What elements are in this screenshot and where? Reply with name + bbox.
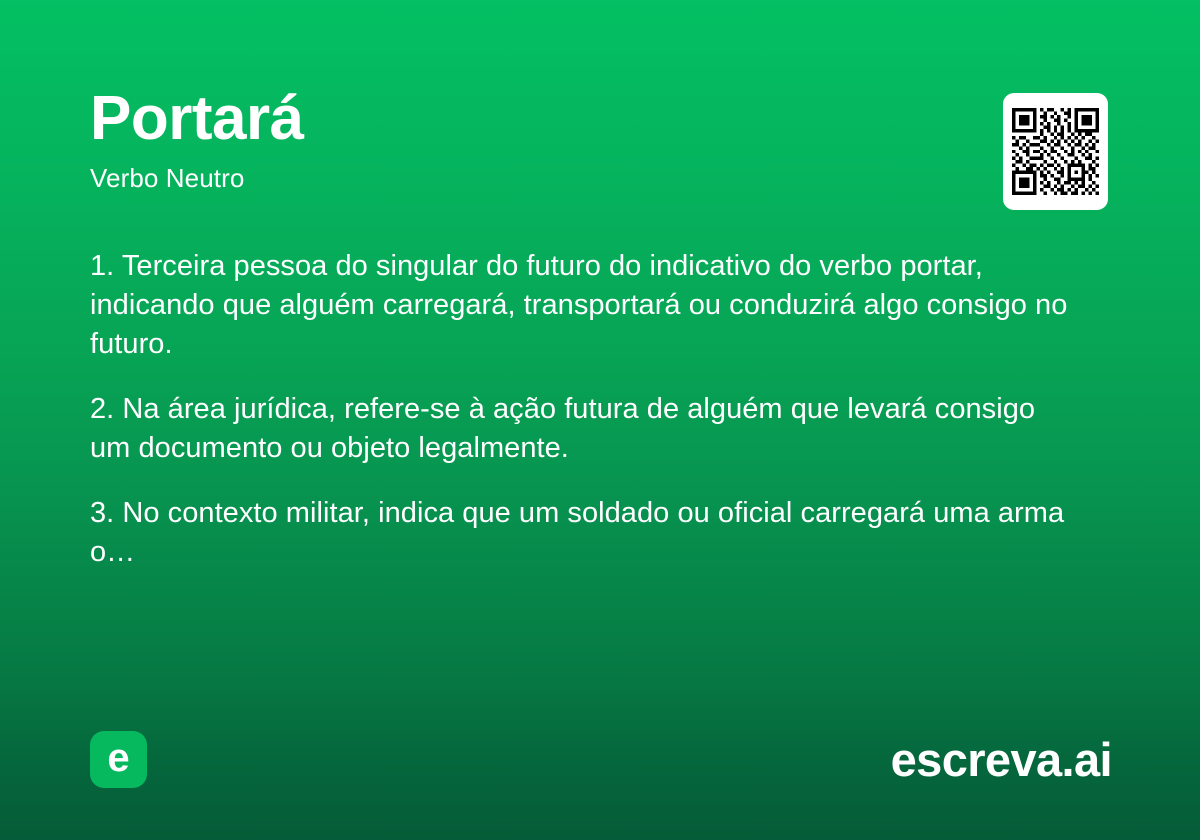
card-header: Portará Verbo Neutro: [90, 88, 1110, 193]
qr-code-icon: [1012, 108, 1099, 195]
brand-logo-mark: e: [90, 731, 147, 788]
card-footer: e escreva.ai: [90, 730, 1112, 788]
qr-code-card[interactable]: [1003, 93, 1108, 210]
page-title: Portará: [90, 88, 1110, 150]
definition-item: 3. No contexto militar, indica que um so…: [90, 494, 1080, 572]
definition-card: Portará Verbo Neutro: [0, 0, 1200, 840]
definitions-list: 1. Terceira pessoa do singular do futuro…: [90, 247, 1080, 572]
word-class-label: Verbo Neutro: [90, 164, 1110, 193]
brand-logo-letter: e: [107, 738, 129, 778]
definition-item: 1. Terceira pessoa do singular do futuro…: [90, 247, 1080, 364]
brand-wordmark: escreva.ai: [891, 736, 1112, 783]
definition-item: 2. Na área jurídica, refere-se à ação fu…: [90, 390, 1080, 468]
